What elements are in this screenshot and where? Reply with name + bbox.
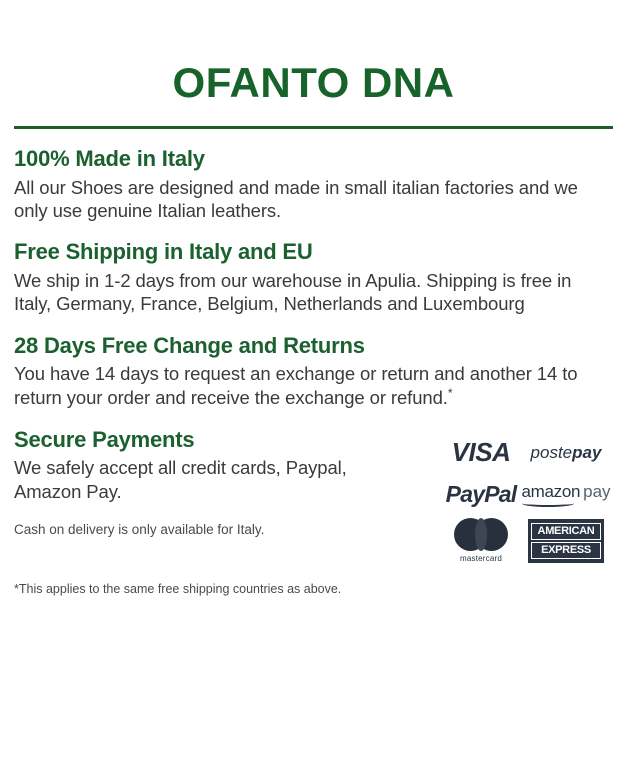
amazon-label: amazon [521,482,580,502]
paypal-icon: PayPal [446,481,517,508]
section-free-change-returns: 28 Days Free Change and Returns You have… [14,332,613,410]
page-title: OFANTO DNA [14,0,613,104]
amex-label-line2: EXPRESS [531,542,601,559]
section-heading: 28 Days Free Change and Returns [14,332,613,360]
section-secure-payments: Secure Payments We safely accept all cre… [14,426,613,566]
section-body: We safely accept all credit cards, Paypa… [14,456,414,503]
visa-icon: VISA [452,437,511,468]
section-heading: 100% Made in Italy [14,145,613,173]
mastercard-label: mastercard [460,554,502,563]
postepay-label-bold: pay [572,443,601,463]
postepay-icon: postepay [531,443,602,463]
postepay-label-light: poste [531,443,573,463]
section-heading: Free Shipping in Italy and EU [14,238,613,266]
ofanto-dna-info-panel: OFANTO DNA 100% Made in Italy All our Sh… [0,0,627,783]
footnote: *This applies to the same free shipping … [14,582,613,596]
mastercard-overlap-shape [475,518,487,551]
payment-methods-grid: VISA postepay PayPal amazonpay mastercar… [439,432,609,566]
amazon-pay-label: pay [583,482,610,502]
cash-on-delivery-note: Cash on delivery is only available for I… [14,521,414,539]
amex-label-line1: AMERICAN [531,523,601,540]
section-made-in-italy: 100% Made in Italy All our Shoes are des… [14,145,613,222]
section-heading: Secure Payments [14,426,414,454]
secure-payments-text-block: Secure Payments We safely accept all cre… [14,426,414,539]
amazon-pay-icon: amazonpay [521,482,610,508]
title-divider [14,126,613,129]
mastercard-icon: mastercard [454,518,508,563]
section-body-text: You have 14 days to request an exchange … [14,363,577,408]
american-express-icon: AMERICAN EXPRESS [528,519,604,563]
section-body: All our Shoes are designed and made in s… [14,176,613,223]
footnote-text: This applies to the same free shipping c… [19,582,341,596]
section-free-shipping: Free Shipping in Italy and EU We ship in… [14,238,613,315]
section-body: We ship in 1-2 days from our warehouse i… [14,269,613,316]
amazon-smile-icon [522,500,574,507]
mastercard-circles-icon [454,518,508,551]
section-body: You have 14 days to request an exchange … [14,362,613,409]
footnote-marker-inline: * [448,386,453,400]
